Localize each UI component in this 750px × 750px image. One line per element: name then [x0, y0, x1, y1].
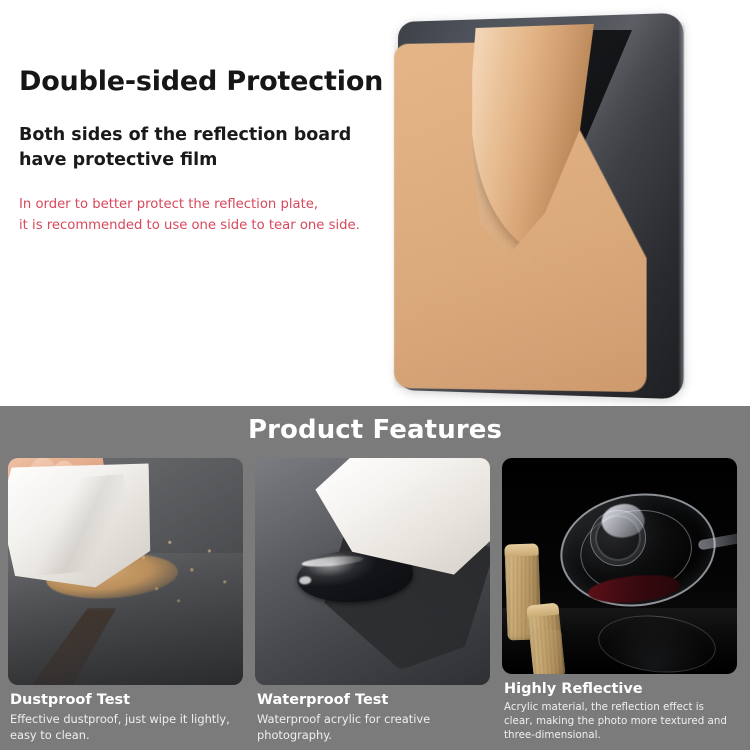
dustproof-photo — [8, 458, 243, 685]
hero-text-block: Double-sided Protection Both sides of th… — [19, 66, 384, 237]
waterproof-caption: Waterproof Test Waterproof acrylic for c… — [255, 685, 490, 743]
reflective-photo — [502, 458, 737, 674]
hero-note-line-1: In order to better protect the reflectio… — [19, 194, 379, 215]
feature-body: Effective dustproof, just wipe it lightl… — [10, 712, 241, 743]
droplet-edge-highlight — [299, 576, 312, 585]
features-section-title: Product Features — [0, 415, 750, 445]
feature-card-waterproof: Waterproof Test Waterproof acrylic for c… — [255, 458, 490, 743]
hero-note-line-2: it is recommended to use one side to tea… — [19, 215, 379, 236]
hero-subtitle: Both sides of the reflection board have … — [19, 123, 379, 174]
cork-top — [526, 603, 559, 618]
cork-top — [504, 543, 538, 556]
reflective-caption: Highly Reflective Acrylic material, the … — [502, 674, 737, 743]
dustproof-caption: Dustproof Test Effective dustproof, just… — [8, 685, 243, 743]
feature-body: Waterproof acrylic for creative photogra… — [257, 712, 488, 743]
product-infographic: Double-sided Protection Both sides of th… — [0, 0, 750, 750]
acrylic-edge-highlight — [678, 21, 684, 391]
feature-card-reflective: Highly Reflective Acrylic material, the … — [502, 458, 737, 743]
feature-heading: Dustproof Test — [10, 691, 241, 709]
hero-section: Double-sided Protection Both sides of th… — [0, 0, 750, 406]
feature-card-list: Dustproof Test Effective dustproof, just… — [8, 458, 742, 743]
hero-note: In order to better protect the reflectio… — [19, 194, 379, 237]
waterproof-photo — [255, 458, 490, 685]
page-title: Double-sided Protection — [19, 66, 384, 97]
feature-card-dustproof: Dustproof Test Effective dustproof, just… — [8, 458, 243, 743]
features-section: Product Features — [0, 406, 750, 750]
product-image — [388, 8, 728, 398]
feature-heading: Waterproof Test — [257, 691, 488, 709]
feature-heading: Highly Reflective — [504, 680, 735, 698]
cork-mirror-image — [532, 630, 562, 670]
cloth-fold — [14, 474, 132, 577]
feature-body: Acrylic material, the reflection effect … — [504, 701, 735, 743]
